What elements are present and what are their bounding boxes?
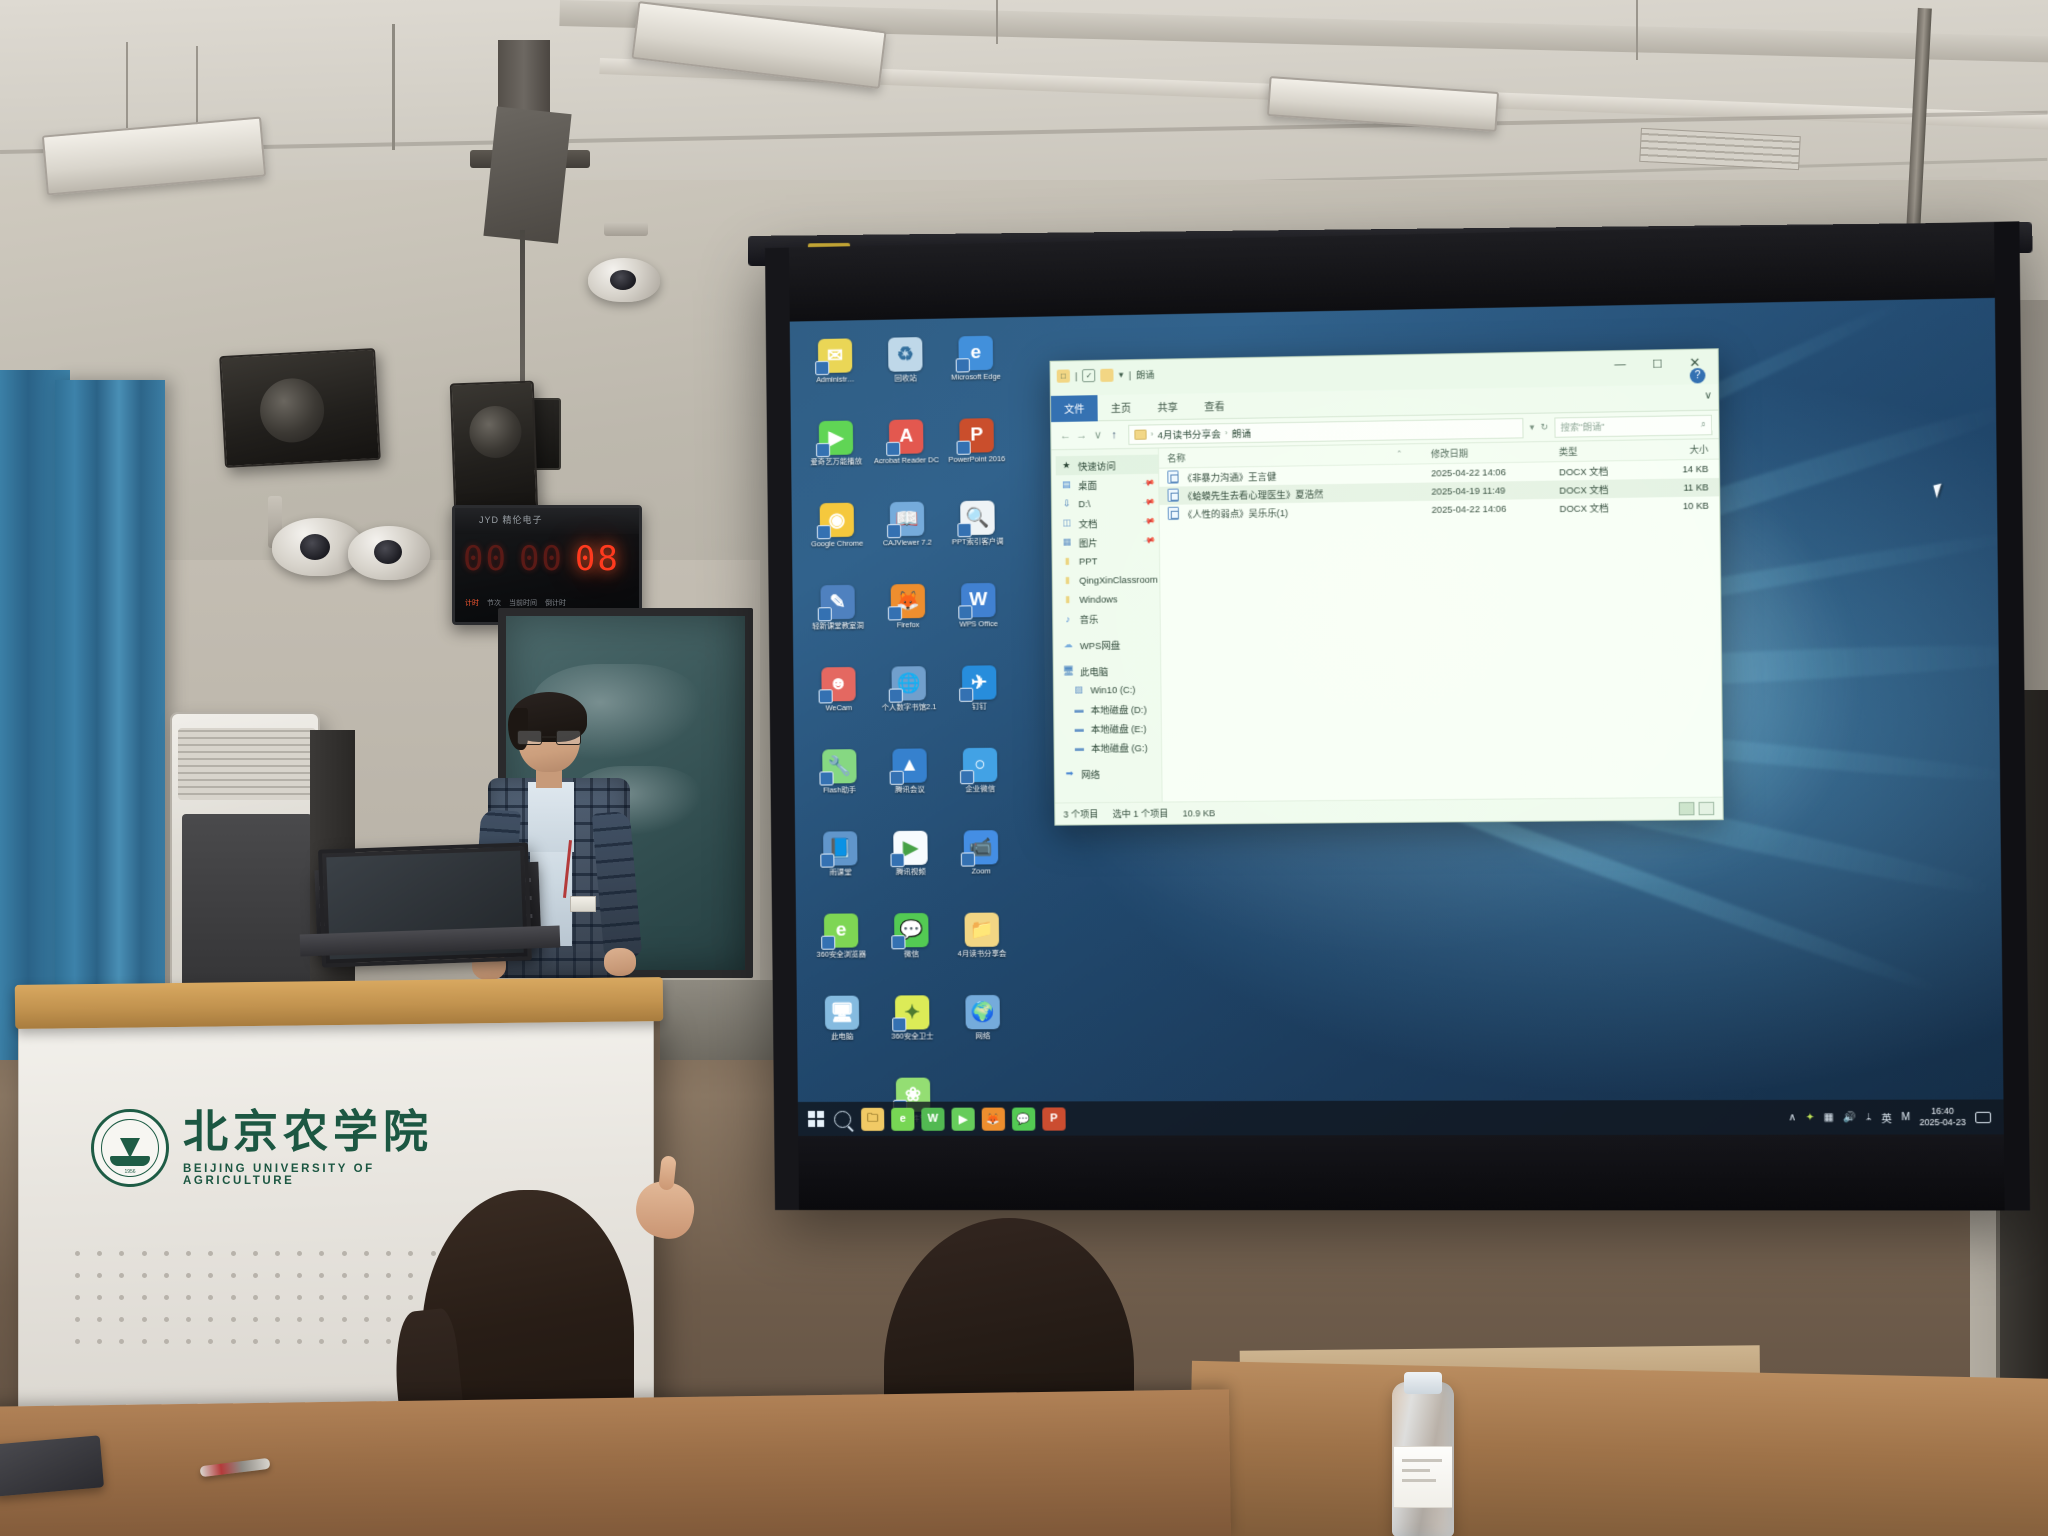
speaker-cone (469, 405, 523, 459)
desktop-icon[interactable]: ▶爱奇艺万能播放 (801, 416, 872, 495)
pictures-icon: ▦ (1060, 536, 1073, 549)
seal-year: 1956 (124, 1169, 135, 1175)
ime-english-icon[interactable]: 英 (1881, 1109, 1892, 1124)
nav-label: D:\ (1078, 498, 1090, 508)
desktop-icon[interactable]: 📖CAJViewer 7.2 (872, 497, 943, 576)
file-type-cell: DOCX 文档 (1551, 500, 1646, 516)
firefox-icon[interactable]: 🦊 (982, 1107, 1005, 1130)
nav-item-music[interactable]: ♪音乐 (1057, 608, 1160, 628)
recycle-bin-icon: ♻ (888, 337, 923, 372)
desktop-icon[interactable]: ○企业微信 (945, 744, 1016, 823)
wall-speaker-right (450, 381, 539, 516)
bottle-cap (1404, 1372, 1442, 1394)
desktop-icon-label: 腾讯会议 (875, 785, 945, 794)
desktop-icon-label: 钉钉 (944, 702, 1015, 711)
tab-file[interactable]: 文件 (1051, 395, 1098, 422)
forward-button[interactable]: → (1074, 429, 1090, 441)
desktop-icon[interactable]: ✈钉钉 (944, 661, 1015, 740)
classroom-led-clock: JYD 精伦电子 00 00 08 计时 节次 当前时间 倒计时 (452, 505, 642, 625)
led-digit-group: 00 00 08 (463, 542, 620, 576)
desktop-icon-label: Google Chrome (802, 539, 872, 549)
file-modified-cell: 2025-04-19 11:49 (1423, 485, 1551, 497)
media-player-icon[interactable]: ▶ (951, 1107, 974, 1130)
desktop-icon[interactable]: ✎轻新课堂教室洞 (802, 581, 873, 660)
label-line (1402, 1479, 1436, 1482)
nav-item-quick-access[interactable]: ★快速访问 (1056, 455, 1159, 476)
led-digit-3: 08 (575, 542, 620, 576)
desktop-icon-label: 网络 (948, 1032, 1019, 1041)
led-brand-label: JYD 精伦电子 (479, 513, 543, 526)
pin-icon[interactable]: 📌 (1143, 534, 1157, 547)
university-name-en: BEIJING UNIVERSITY OF AGRICULTURE (183, 1163, 441, 1187)
breadcrumb-item-0[interactable]: 4月读书分享会 (1157, 426, 1221, 441)
file-size-cell: 14 KB (1646, 464, 1719, 475)
nav-item-ppt[interactable]: ▮PPT (1057, 550, 1160, 571)
classroom-scene: 无线话筒接收机 JYD 精伦电子 00 00 08 计时 节次 当前时间 倒计时 (0, 0, 2048, 1536)
address-bar-right[interactable]: ▾ ↻ 搜索"朗诵" ⌕ (1529, 414, 1712, 437)
tablet-device[interactable] (0, 1435, 104, 1496)
ac-grill (178, 728, 316, 800)
breadcrumb[interactable]: › 4月读书分享会 › 朗诵 (1128, 418, 1523, 445)
folder-icon: ▮ (1061, 593, 1074, 606)
wps-office-icon: W (961, 583, 996, 618)
presenter-shirt (528, 782, 574, 852)
tab-home[interactable]: 主页 (1097, 395, 1144, 421)
nav-item-drive-g[interactable]: ▬本地磁盘 (G:) (1059, 737, 1162, 757)
network-icon: ➡ (1063, 767, 1076, 780)
desktop-icon-label: 此电脑 (807, 1033, 877, 1042)
desktop-icon-label: 爱奇艺万能播放 (801, 457, 871, 467)
nav-label: 音乐 (1079, 611, 1098, 625)
network-icon[interactable]: ▦ (1824, 1112, 1834, 1123)
camera-lens (374, 540, 402, 564)
column-header-name[interactable]: 名称 ⌃ (1159, 447, 1423, 464)
file-modified-cell: 2025-04-22 14:06 (1423, 503, 1551, 515)
breadcrumb-sep: › (1225, 428, 1228, 437)
glasses-bridge (542, 736, 556, 738)
bluetooth-icon[interactable]: ᛦ (1866, 1112, 1872, 1123)
pin-icon[interactable]: 📌 (1142, 477, 1156, 490)
desktop-icon-label: WeCam (804, 704, 874, 713)
desktop-icon-label: 360安全浏览器 (806, 950, 876, 959)
desktop-icon-label: 回收站 (870, 374, 940, 384)
desktop-icon[interactable]: 💬微信 (876, 909, 947, 988)
acrobat-icon: A (889, 419, 924, 454)
separator: | (1129, 370, 1131, 380)
nav-label: 网络 (1081, 766, 1100, 780)
desktop-icon-label: Administr… (800, 375, 870, 385)
pin-icon[interactable]: 📌 (1143, 496, 1157, 509)
university-seal-icon: 1956 (91, 1109, 169, 1187)
column-header-modified[interactable]: 修改日期 (1423, 445, 1551, 460)
projected-windows-desktop: ✉Administr… ♻回收站 eMicrosoft Edge ▶爱奇艺万能播… (790, 298, 2004, 1136)
presenter-glasses (517, 730, 581, 745)
details-view-button[interactable] (1679, 802, 1695, 815)
document-icon: ◫ (1060, 516, 1073, 529)
chevron-down-icon[interactable]: ▾ (1530, 422, 1535, 433)
360-safeguard-icon: ✦ (895, 995, 930, 1029)
bottle-label (1394, 1446, 1452, 1508)
led-sublabel-2: 当前时间 (509, 598, 537, 608)
properties-icon[interactable]: ✓ (1082, 369, 1095, 382)
desktop-icon[interactable]: ♻回收站 (870, 333, 941, 413)
refresh-icon[interactable]: ↻ (1540, 422, 1548, 433)
iqiyi-icon: ▶ (819, 421, 853, 456)
navigation-pane[interactable]: ★快速访问 ▤桌面📌 ⇩D:\📌 ◫文档📌 ▦图片📌 ▮PPT ▮QingXin… (1051, 449, 1162, 803)
desktop-icon[interactable]: ✉Administr… (800, 334, 871, 413)
music-icon: ♪ (1061, 612, 1074, 625)
cajviewer-icon: 📖 (890, 502, 925, 537)
volume-icon[interactable]: 🔊 (1843, 1112, 1856, 1123)
tencent-video-icon: ▶ (893, 831, 928, 865)
led-digit-1: 00 (463, 542, 508, 576)
desktop-icon[interactable]: e360安全浏览器 (806, 909, 877, 988)
nav-item-this-pc[interactable]: 🖥此电脑 (1058, 660, 1161, 680)
dingtalk-icon: ✈ (962, 665, 997, 700)
desktop-icon-label: CAJViewer 7.2 (872, 538, 942, 548)
network-icon: 🌍 (965, 995, 1000, 1029)
desktop-icon[interactable]: 📁4月读书分享会 (946, 908, 1017, 987)
nav-label: Win10 (C:) (1090, 684, 1135, 695)
led-digit-2: 00 (519, 542, 564, 576)
view-toggle-group[interactable] (1679, 802, 1715, 816)
led-sublabel-3: 倒计时 (545, 598, 566, 608)
drive-icon: ▨ (1072, 683, 1085, 696)
wecom-icon: ○ (963, 748, 998, 782)
wps-writer-icon[interactable]: W (921, 1107, 944, 1130)
cloud-icon: ☁ (1062, 638, 1075, 651)
recent-locations-button[interactable]: ∨ (1090, 428, 1106, 441)
nav-item-qingxinclassroom[interactable]: ▮QingXinClassroom (1057, 570, 1160, 591)
windows-taskbar[interactable]: 🗀 e W ▶ 🦊 💬 P ∧ ✦ ▦ 🔊 ᛦ 英 M (798, 1099, 2004, 1136)
presenter-hand-right (604, 948, 636, 976)
desktop-icon-label: 微信 (876, 950, 946, 959)
wecam-icon: ☻ (821, 667, 855, 701)
explorer-status-bar: 3 个项目 选中 1 个项目 10.9 KB (1055, 797, 1722, 825)
nav-label: WPS网盘 (1080, 637, 1120, 652)
folder-icon[interactable] (1101, 369, 1114, 382)
nav-label: 本地磁盘 (D:) (1091, 701, 1147, 716)
lamp-chain-a (126, 42, 128, 128)
taskbar-pinned-apps[interactable]: 🗀 e W ▶ 🦊 💬 P (861, 1107, 1066, 1130)
led-sublabel-1: 节次 (487, 598, 501, 608)
desktop-icon-label: Acrobat Reader DC (871, 456, 941, 466)
antenna-plate (483, 106, 571, 243)
selection-count: 选中 1 个项目 (1112, 807, 1168, 821)
tab-share[interactable]: 共享 (1144, 394, 1191, 420)
ptz-camera-right (348, 526, 430, 580)
desktop-icon[interactable]: 🔍PPT索引客户调 (942, 496, 1013, 575)
docx-file-icon (1167, 470, 1178, 483)
folder-icon: ▮ (1061, 555, 1074, 568)
powerpoint-icon: P (959, 418, 994, 453)
tab-view[interactable]: 查看 (1191, 394, 1238, 420)
antenna-rod (520, 230, 525, 405)
ime-mode-icon[interactable]: M (1901, 1111, 1910, 1122)
desktop-icon-label: Zoom (946, 867, 1017, 876)
student-desk-right (1188, 1361, 2048, 1536)
zoom-icon: 📹 (964, 830, 999, 864)
search-icon[interactable] (834, 1110, 851, 1127)
university-name-cn: 北京农学院 (183, 1110, 441, 1155)
book-emblem-icon (110, 1156, 150, 1166)
folder-icon (1134, 429, 1146, 439)
ribbon-tab-list[interactable]: 文件 主页 共享 查看 (1051, 393, 1238, 423)
file-explorer-icon[interactable]: 🗀 (861, 1107, 884, 1130)
desktop-icon-label: PowerPoint 2016 (942, 455, 1013, 465)
windows-logo-icon (808, 1111, 824, 1127)
up-button[interactable]: ↑ (1106, 428, 1122, 440)
breadcrumb-item-1[interactable]: 朗诵 (1232, 425, 1252, 439)
quick-access-toolbar[interactable]: □ | ✓ ▾ | 朗诵 (1057, 368, 1155, 383)
flash-helper-icon: 🔧 (822, 749, 856, 783)
lamp-rod-a (392, 24, 395, 150)
clock-time: 16:40 (1919, 1106, 1965, 1117)
nav-label: 此电脑 (1080, 663, 1108, 677)
desktop-icon-label: 雨课堂 (805, 868, 875, 877)
wechat-icon[interactable]: 💬 (1012, 1107, 1035, 1130)
desktop-icon-label: 4月读书分享会 (947, 950, 1018, 959)
desktop-icon[interactable]: WWPS Office (943, 579, 1014, 658)
selection-size: 10.9 KB (1183, 808, 1216, 818)
file-name: 《非暴力沟通》王言健 (1183, 472, 1277, 484)
lamp-chain-d (1636, 0, 1638, 60)
desktop-icon[interactable]: 🦊Firefox (873, 580, 944, 659)
folder-icon: 📁 (964, 913, 999, 947)
taskbar-clock[interactable]: 16:40 2025-04-23 (1919, 1106, 1965, 1129)
nav-label: PPT (1079, 556, 1097, 566)
desktop-icon-label: 360安全卫士 (877, 1032, 947, 1041)
student-desk-left (0, 1389, 1231, 1536)
star-icon: ★ (1060, 459, 1073, 472)
wheat-emblem-icon (120, 1138, 140, 1158)
nav-label: Windows (1079, 594, 1117, 605)
nav-label: 本地磁盘 (E:) (1091, 721, 1147, 736)
desktop-icon[interactable]: 📹Zoom (945, 826, 1016, 905)
desktop-icon[interactable]: 🔧Flash助手 (804, 745, 875, 824)
led-sublabels: 计时 节次 当前时间 倒计时 (465, 598, 635, 608)
ribbon-right-controls[interactable]: ∨ ? (1704, 390, 1712, 401)
docx-file-icon (1167, 489, 1178, 502)
label-line (1402, 1459, 1442, 1462)
firefox-icon: 🦊 (891, 584, 926, 619)
drive-icon: ▬ (1072, 703, 1085, 716)
folder-icon: ▮ (1061, 574, 1074, 587)
projection-screen: ✉Administr… ♻回收站 eMicrosoft Edge ▶爱奇艺万能播… (765, 221, 2030, 1210)
desktop-icon-label: Firefox (873, 621, 943, 631)
nav-item-windows[interactable]: ▮Windows (1057, 589, 1160, 610)
desktop-icon-label: Microsoft Edge (941, 373, 1012, 383)
file-name-cell[interactable]: 《非暴力沟通》王言健 (1159, 466, 1423, 484)
breadcrumb-sep: › (1151, 429, 1154, 438)
desktop-icon[interactable]: ◉Google Chrome (802, 498, 873, 577)
column-header-size[interactable]: 大小 (1646, 442, 1719, 456)
download-icon: ⇩ (1060, 497, 1073, 510)
file-explorer-window[interactable]: □ | ✓ ▾ | 朗诵 — ☐ ✕ (1050, 348, 1724, 825)
back-button[interactable]: ← (1057, 429, 1073, 441)
powerpoint-icon[interactable]: P (1042, 1107, 1066, 1130)
desktop-icon[interactable]: AAcrobat Reader DC (871, 415, 942, 494)
nav-item-documents[interactable]: ◫文档📌 (1056, 512, 1159, 533)
camera-lens (300, 534, 330, 560)
item-count: 3 个项目 (1063, 807, 1098, 820)
speaker-cone (258, 377, 325, 444)
search-input[interactable]: 搜索"朗诵" ⌕ (1554, 414, 1712, 437)
this-pc-icon: 🖥 (1062, 664, 1075, 677)
file-name: 《蛤蟆先生去看心理医生》夏浩然 (1183, 489, 1324, 501)
university-logo: 1956 北京农学院 BEIJING UNIVERSITY OF AGRICUL… (91, 1093, 441, 1203)
desktop-icon[interactable]: ☻WeCam (803, 663, 874, 742)
nav-label: 桌面 (1078, 477, 1097, 491)
desktop-icon-label: 企业微信 (945, 785, 1016, 794)
nav-item-pictures[interactable]: ▦图片📌 (1056, 531, 1159, 552)
nav-label: QingXinClassroom (1079, 574, 1158, 585)
desktop-icon[interactable]: PPowerPoint 2016 (941, 414, 1012, 494)
nav-item-desktop[interactable]: ▤桌面📌 (1056, 474, 1159, 495)
file-size-cell: 11 KB (1646, 482, 1719, 493)
lamp-chain-c (996, 0, 998, 44)
chevron-down-icon[interactable]: ∨ (1704, 390, 1712, 401)
nav-item-drive-c[interactable]: ▨Win10 (C:) (1058, 680, 1161, 700)
drive-icon: ▬ (1073, 722, 1086, 735)
explorer-body: ★快速访问 ▤桌面📌 ⇩D:\📌 ◫文档📌 ▦图片📌 ▮PPT ▮QingXin… (1051, 439, 1722, 802)
chevron-down-icon[interactable]: ▾ (1119, 369, 1124, 380)
file-name: 《人性的弱点》吴乐乐(1) (1183, 508, 1288, 520)
led-sublabel-0: 计时 (465, 598, 479, 608)
nav-item-drive-d[interactable]: ▬本地磁盘 (D:) (1058, 699, 1161, 719)
label-line (1402, 1469, 1430, 1472)
desktop-icon-label: 腾讯视频 (876, 868, 946, 877)
sort-ascending-icon: ⌃ (1396, 450, 1402, 458)
360-browser-icon[interactable]: e (891, 1107, 914, 1130)
qingxin-classroom-icon: ✎ (820, 585, 854, 620)
glasses-lens-left (517, 730, 542, 745)
desktop-icon[interactable]: 🌐个人数字书馆2.1 (873, 662, 944, 741)
desktop-icon-label: PPT索引客户调 (942, 537, 1013, 547)
tencent-meeting-icon: ▲ (892, 748, 927, 782)
desktop-icon[interactable]: 📘雨课堂 (805, 827, 876, 906)
nav-label: 图片 (1079, 535, 1098, 549)
minimize-button[interactable]: — (1601, 351, 1639, 378)
screen-border-bottom (774, 1134, 2030, 1210)
docx-file-icon (1168, 507, 1179, 520)
desktop-icon[interactable]: ✦360安全卫士 (877, 991, 948, 1070)
desktop-icon[interactable]: ▲腾讯会议 (874, 744, 945, 823)
desktop-icon-label: 轻新课堂教室洞 (803, 622, 873, 632)
mouse-pointer (1933, 482, 1949, 498)
desktop-icon-label: Flash助手 (805, 786, 875, 795)
file-name-cell[interactable]: 《人性的弱点》吴乐乐(1) (1160, 503, 1424, 521)
360-browser-icon: e (824, 913, 858, 947)
nav-item-drive-e[interactable]: ▬本地磁盘 (E:) (1058, 718, 1161, 738)
show-hidden-icons-button[interactable]: ∧ (1788, 1112, 1796, 1123)
digital-library-icon: 🌐 (892, 666, 927, 700)
desktop-icon-label: WPS Office (943, 620, 1014, 630)
file-type-cell: DOCX 文档 (1551, 463, 1646, 479)
this-pc-icon: 🖥 (825, 996, 859, 1030)
nav-label: 本地磁盘 (G:) (1091, 740, 1148, 755)
file-name-cell[interactable]: 《蛤蟆先生去看心理医生》夏浩然 (1159, 485, 1423, 503)
search-placeholder: 搜索"朗诵" (1561, 420, 1605, 434)
desktop-icon[interactable]: 🖥此电脑 (807, 992, 878, 1070)
magnifier-icon: 🔍 (960, 500, 995, 535)
ceiling-dome-camera (588, 258, 660, 302)
desktop-icon-label: 个人数字书馆2.1 (874, 703, 944, 712)
file-list-pane[interactable]: 名称 ⌃ 修改日期 类型 大小 《非暴力沟通》王言健 2025-04-22 14… (1159, 439, 1722, 801)
wall-speaker-left (219, 348, 381, 468)
presenter-badge (570, 896, 596, 912)
desktop-icon[interactable]: ▶腾讯视频 (875, 827, 946, 906)
maximize-button[interactable]: ☐ (1639, 350, 1677, 377)
file-size-cell: 10 KB (1646, 500, 1719, 511)
desktop-icon[interactable]: eMicrosoft Edge (940, 331, 1011, 411)
curtain-right[interactable] (55, 380, 165, 1080)
search-icon[interactable]: ⌕ (1701, 419, 1706, 430)
column-header-type[interactable]: 类型 (1551, 443, 1646, 458)
notification-icon[interactable] (1975, 1111, 1991, 1122)
glasses-lens-right (556, 730, 581, 745)
nav-item-network[interactable]: ➡网络 (1059, 763, 1162, 783)
pin-icon[interactable]: 📌 (1143, 515, 1157, 528)
wechat-icon: 💬 (894, 913, 929, 947)
chrome-icon: ◉ (820, 503, 854, 538)
nav-item-downloads[interactable]: ⇩D:\📌 (1056, 493, 1159, 514)
nav-item-wps-cloud[interactable]: ☁WPS网盘 (1057, 634, 1160, 654)
large-icons-view-button[interactable] (1699, 802, 1715, 815)
desktop-icon[interactable]: 🌍网络 (947, 991, 1018, 1070)
nav-label: 文档 (1078, 516, 1097, 530)
start-button[interactable] (804, 1107, 828, 1131)
app-icon: ✉ (818, 338, 852, 373)
drive-icon: ▬ (1073, 741, 1086, 754)
desktop-icon: ▤ (1060, 478, 1073, 491)
rain-classroom-icon: 📘 (823, 831, 857, 865)
360-shield-icon[interactable]: ✦ (1806, 1112, 1815, 1123)
camera-mount-ceiling (604, 222, 648, 236)
edge-icon: e (958, 336, 993, 371)
logo-text-block: 北京农学院 BEIJING UNIVERSITY OF AGRICULTURE (183, 1110, 441, 1187)
separator: | (1075, 371, 1077, 381)
clock-date: 2025-04-23 (1919, 1117, 1965, 1128)
explorer-window-title: 朗诵 (1136, 368, 1154, 381)
column-label: 名称 (1167, 453, 1185, 463)
file-modified-cell: 2025-04-22 14:06 (1423, 466, 1551, 478)
file-type-cell: DOCX 文档 (1551, 481, 1646, 497)
system-tray[interactable]: ∧ ✦ ▦ 🔊 ᛦ 英 M 16:40 2025-04-23 (1788, 1106, 1997, 1129)
camera-lens (610, 270, 636, 290)
pin-icon[interactable]: □ (1057, 369, 1070, 382)
podium-top-surface (15, 977, 663, 1029)
desktop-icon-grid: ✉Administr… ♻回收站 eMicrosoft Edge ▶爱奇艺万能播… (800, 331, 1020, 1136)
nav-label: 快速访问 (1078, 458, 1116, 473)
